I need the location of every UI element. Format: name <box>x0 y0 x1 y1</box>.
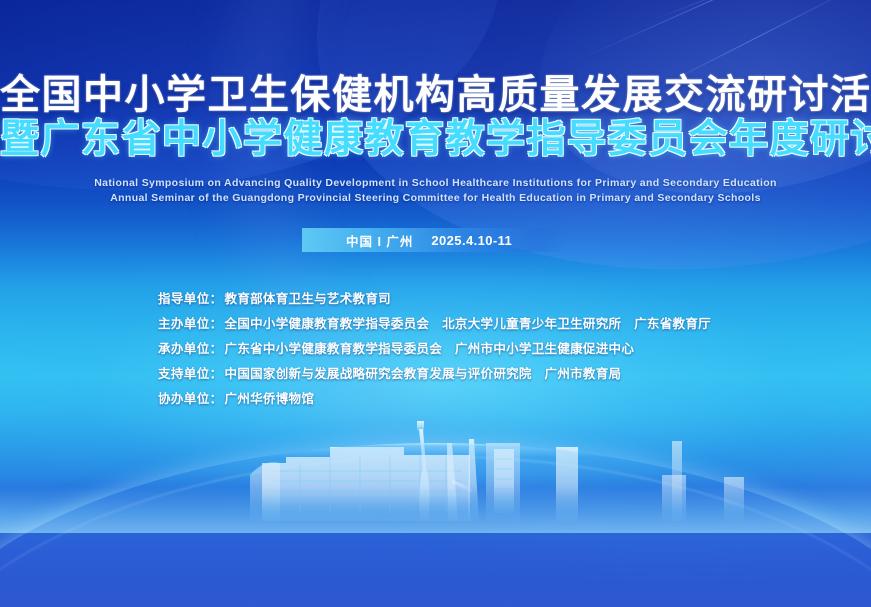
subtitle-line-1: National Symposium on Advancing Quality … <box>0 176 871 191</box>
poster-title-block: 全国中小学卫生保健机构高质量发展交流研讨活动 暨广东省中小学健康教育教学指导委员… <box>0 72 871 162</box>
organizer-value: 全国中小学健康教育教学指导委员会 北京大学儿童青少年卫生研究所 广东省教育厅 <box>225 313 711 332</box>
poster-subtitle-block: National Symposium on Advancing Quality … <box>0 176 871 205</box>
organizer-label: 协办单位： <box>158 388 223 407</box>
title-line-2: 暨广东省中小学健康教育教学指导委员会年度研讨活动 <box>0 117 871 162</box>
badge-date: 2025.4.10-11 <box>431 233 512 248</box>
organizer-label: 承办单位： <box>158 338 223 357</box>
organizer-row-supporter: 支持单位： 中国国家创新与发展战略研究会教育发展与评价研究院 广州市教育局 <box>158 363 858 388</box>
conference-poster: 全国中小学卫生保健机构高质量发展交流研讨活动 暨广东省中小学健康教育教学指导委员… <box>0 0 871 607</box>
organizer-label: 支持单位： <box>158 363 223 382</box>
organizer-value: 广东省中小学健康教育教学指导委员会 广州市中小学卫生健康促进中心 <box>225 338 635 357</box>
organizer-value: 中国国家创新与发展战略研究会教育发展与评价研究院 广州市教育局 <box>225 363 622 382</box>
organizer-value: 广州华侨博物馆 <box>225 388 315 407</box>
organizer-list: 指导单位： 教育部体育卫生与艺术教育司 主办单位： 全国中小学健康教育教学指导委… <box>158 288 858 413</box>
location-date-badge: 中国 I 广州 2025.4.10-11 <box>302 228 570 252</box>
organizer-label: 主办单位： <box>158 313 223 332</box>
badge-location: 中国 I 广州 <box>346 231 413 250</box>
organizer-row-guidance: 指导单位： 教育部体育卫生与艺术教育司 <box>158 288 858 313</box>
organizer-row-coorganizer: 协办单位： 广州华侨博物馆 <box>158 388 858 413</box>
subtitle-line-2: Annual Seminar of the Guangdong Provinci… <box>0 191 871 206</box>
organizer-row-host: 主办单位： 全国中小学健康教育教学指导委员会 北京大学儿童青少年卫生研究所 广东… <box>158 313 858 338</box>
organizer-label: 指导单位： <box>158 288 223 307</box>
title-line-1: 全国中小学卫生保健机构高质量发展交流研讨活动 <box>0 72 871 118</box>
organizer-value: 教育部体育卫生与艺术教育司 <box>225 288 391 307</box>
organizer-row-undertaker: 承办单位： 广东省中小学健康教育教学指导委员会 广州市中小学卫生健康促进中心 <box>158 338 858 363</box>
